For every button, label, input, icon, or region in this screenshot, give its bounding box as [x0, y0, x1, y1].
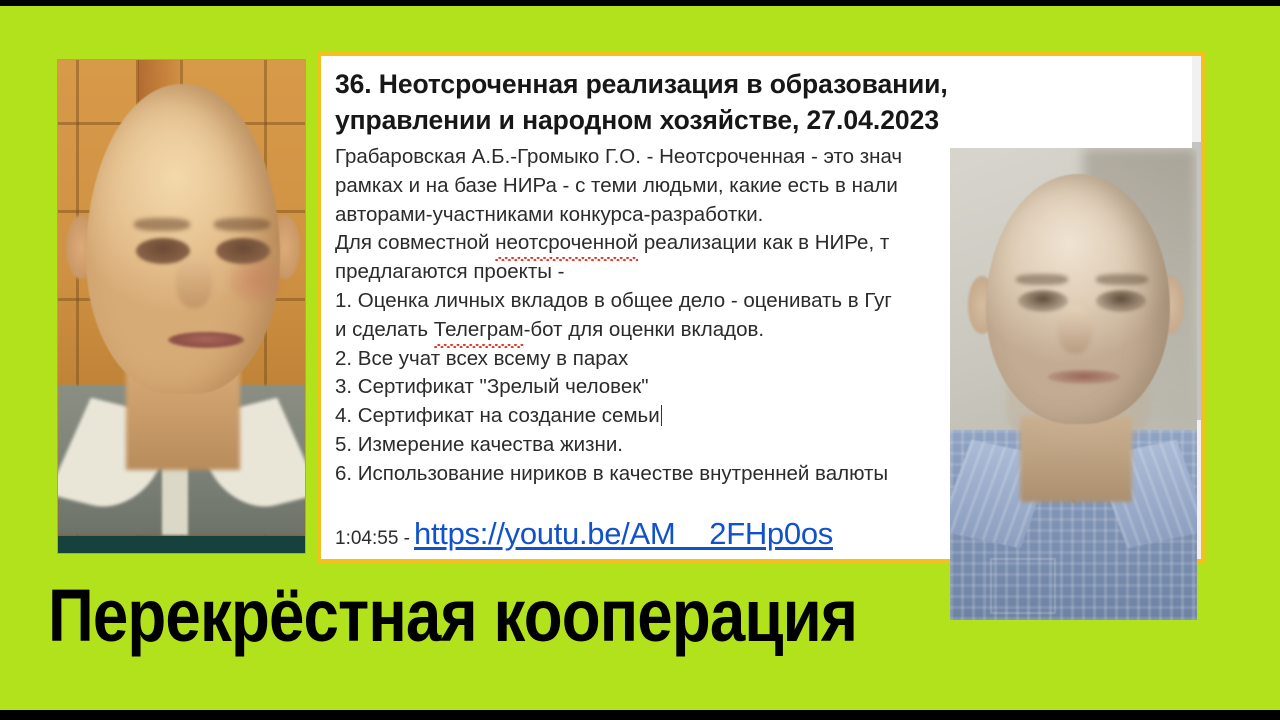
- video-link-row: 1:04:55 - https://youtu.be/AM__2FHp0os: [335, 516, 833, 552]
- right-man-nose: [1058, 306, 1092, 354]
- right-man-eye: [1018, 290, 1068, 312]
- spellcheck-misspelled-word: неотсроченной: [495, 229, 638, 258]
- text-after-misspelling: реализации как в НИРе, т: [638, 231, 889, 254]
- text-caret: [661, 405, 662, 426]
- youtube-link[interactable]: https://youtu.be/AM__2FHp0os: [414, 516, 833, 552]
- timecode-label: 1:04:55 -: [335, 528, 410, 550]
- left-man-nose: [176, 256, 212, 308]
- text-before-misspelling: и сделать: [335, 318, 434, 341]
- thumbnail-headline: Перекрёстная кооперация: [48, 576, 857, 656]
- video-thumbnail-canvas: 36. Неотсроченная реализация в образован…: [0, 0, 1280, 720]
- letterbox-bar-top: [0, 0, 1280, 6]
- slide-title-line1: 36. Неотсроченная реализация в образован…: [335, 66, 1191, 102]
- right-man-eye: [1096, 290, 1146, 312]
- left-man-eyebrow: [214, 218, 270, 231]
- slide-title-line2-text: управлении и народном хозяйстве,: [335, 105, 799, 135]
- slide-title-date: 27.04.2023: [807, 105, 940, 135]
- right-man-eyebrow: [1016, 274, 1068, 285]
- letterbox-bar-bottom: [0, 710, 1280, 720]
- right-man-eyebrow: [1096, 274, 1148, 285]
- photo-right-man: [950, 148, 1197, 620]
- slide-title: 36. Неотсроченная реализация в образован…: [335, 66, 1191, 138]
- text-after-misspelling: -бот для оценки вкладов.: [524, 318, 764, 341]
- slide-title-line2: управлении и народном хозяйстве, 27.04.2…: [335, 102, 1191, 138]
- left-man-mouth: [168, 332, 244, 348]
- left-photo-bottom-strip: [58, 536, 305, 553]
- photo-left-man: [58, 60, 305, 553]
- right-man-mouth: [1048, 370, 1120, 384]
- left-man-cheek: [230, 258, 282, 302]
- right-man-shirt-pocket: [990, 558, 1056, 614]
- left-man-eyebrow: [134, 218, 190, 231]
- text-before-misspelling: Для совместной: [335, 231, 495, 254]
- left-man-eye: [216, 238, 270, 264]
- spellcheck-misspelled-word: Телеграм: [434, 316, 524, 345]
- list-item-label: 4. Сертификат на создание семьи: [335, 404, 660, 427]
